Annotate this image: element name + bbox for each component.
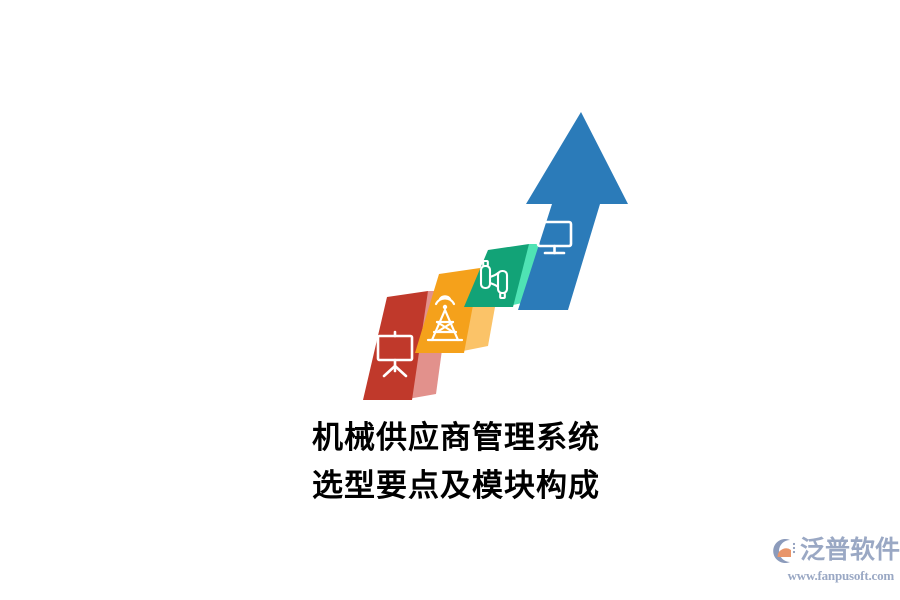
brand-wordmark: 泛普软件 [800, 536, 900, 566]
blue-arrow-shape [518, 112, 628, 310]
page-title-line-1: 机械供应商管理系统 [0, 414, 900, 462]
ascending-arrow-infographic [340, 100, 630, 410]
brand-logo: 泛普软件 www.fanpusoft.com [768, 534, 894, 586]
page-title: 机械供应商管理系统 选型要点及模块构成 [0, 414, 900, 510]
poster-canvas: 机械供应商管理系统 选型要点及模块构成 泛普软件 www.fanpusoft.c… [0, 0, 900, 600]
step-4-blue-arrow [518, 112, 628, 310]
fanpu-c-emblem-icon [768, 536, 798, 566]
page-title-line-2: 选型要点及模块构成 [0, 462, 900, 510]
brand-logo-row: 泛普软件 [768, 534, 894, 568]
brand-url: www.fanpusoft.com [768, 568, 894, 584]
